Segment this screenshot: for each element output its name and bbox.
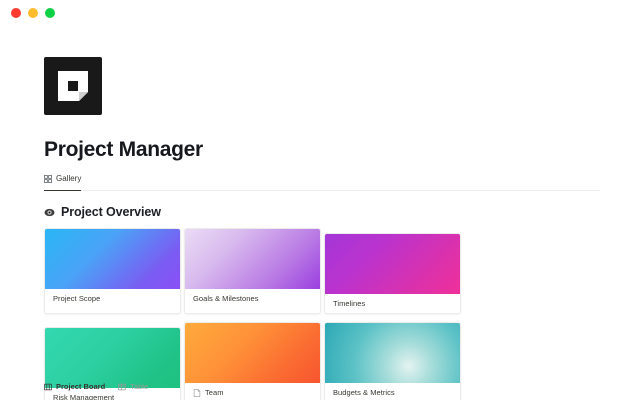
bottom-tab-label: Table [130, 382, 148, 391]
page-title: Project Manager [44, 139, 600, 160]
card-title: Risk Management [53, 393, 114, 400]
card-label-row: Team [185, 383, 320, 400]
view-tab-label: Gallery [56, 174, 81, 183]
traffic-lights [11, 8, 55, 18]
card-title: Timelines [333, 299, 365, 308]
card-title: Project Scope [53, 294, 100, 303]
card-cover [45, 328, 180, 388]
bottom-tab-project-board[interactable]: Project Board [44, 382, 105, 391]
view-tab-bar: Gallery [44, 174, 600, 191]
card-timelines[interactable]: Timelines [324, 233, 461, 314]
card-project-scope[interactable]: Project Scope [44, 228, 181, 314]
card-grid: Project Scope Goals & Milestones Timelin… [44, 228, 600, 400]
card-label-row: Timelines [325, 294, 460, 313]
page-content: Project Manager Gallery [0, 57, 640, 400]
card-title: Goals & Milestones [193, 294, 259, 303]
black-square-notch-icon [58, 71, 88, 101]
table-icon [118, 383, 126, 391]
gallery-grid-icon [44, 175, 52, 183]
card-label-row: Project Scope [45, 289, 180, 308]
card-title: Budgets & Metrics [333, 388, 395, 397]
card-label-row: Budgets & Metrics [325, 383, 460, 400]
card-title: Team [205, 388, 224, 397]
board-icon [44, 383, 52, 391]
close-window-button[interactable] [11, 8, 21, 18]
card-cover [45, 229, 180, 289]
bottom-tab-bar: Project Board Table [44, 382, 148, 391]
section-header: Project Overview [44, 205, 600, 219]
eye-icon[interactable] [44, 207, 55, 218]
bottom-tab-label: Project Board [56, 382, 105, 391]
minimize-window-button[interactable] [28, 8, 38, 18]
title-bar [0, 0, 640, 26]
section-title: Project Overview [61, 205, 161, 219]
card-cover [325, 234, 460, 294]
card-cover [185, 229, 320, 289]
bottom-tab-table[interactable]: Table [118, 382, 148, 391]
view-tab-gallery[interactable]: Gallery [44, 174, 81, 186]
card-label-row: Goals & Milestones [185, 289, 320, 308]
maximize-window-button[interactable] [45, 8, 55, 18]
card-team[interactable]: Team [184, 322, 321, 400]
card-goals-milestones[interactable]: Goals & Milestones [184, 228, 321, 314]
app-window: Project Manager Gallery [0, 0, 640, 400]
card-budgets-metrics[interactable]: Budgets & Metrics [324, 322, 461, 400]
page-icon[interactable] [44, 57, 102, 115]
card-cover [325, 323, 460, 383]
card-cover [185, 323, 320, 383]
page-icon [193, 389, 201, 397]
